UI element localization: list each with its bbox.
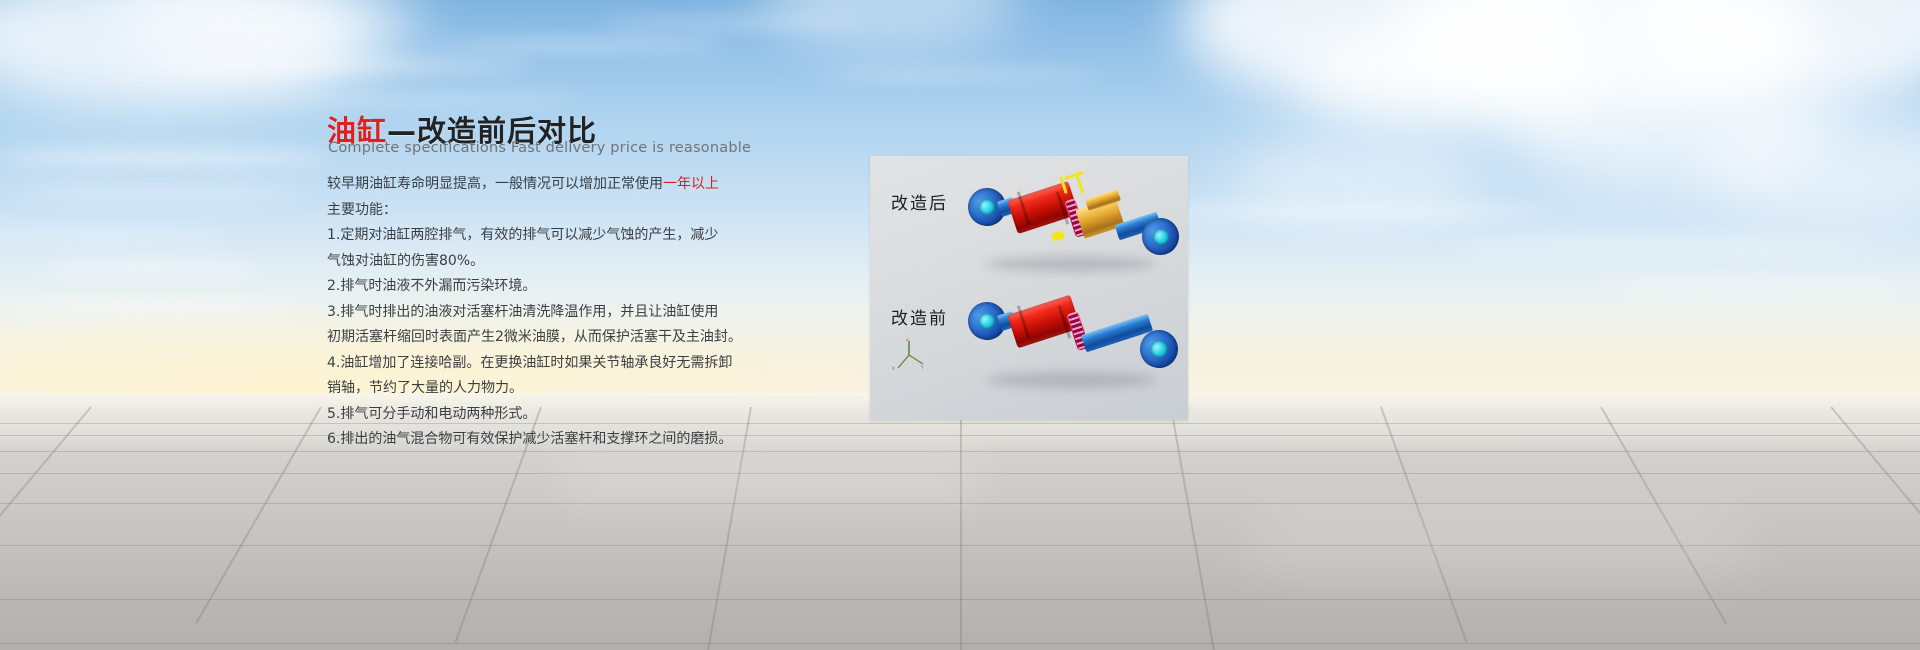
description-line: 主要功能： — [327, 198, 757, 224]
svg-text:Z: Z — [906, 338, 909, 342]
banner-content: 油缸—改造前后对比 Complete specifications Fast d… — [0, 0, 1920, 650]
description-text: 销轴，节约了大量的人力物力。 — [327, 380, 523, 396]
hydraulic-cylinder-after — [966, 170, 1181, 280]
description-text: 气蚀对油缸的伤害80%。 — [327, 253, 484, 269]
description-line: 销轴，节约了大量的人力物力。 — [327, 376, 757, 402]
cylinder-bore — [1150, 226, 1170, 246]
description-line: 3.排气时排出的油液对活塞杆油清洗降温作用，并且让油缸使用 — [327, 300, 757, 326]
description-text: 较早期油缸寿命明显提高，一般情况可以增加正常使用 — [327, 176, 663, 192]
description-line: 6.排出的油气混合物可有效保护减少活塞杆和支撑环之间的磨损。 — [327, 427, 757, 453]
description-text: 初期活塞杆缩回时表面产生2微米油膜，从而保护活塞干及主油封。 — [327, 329, 742, 345]
svg-text:X: X — [892, 366, 895, 371]
description-text: 2.排气时油液不外漏而污染环境。 — [327, 278, 536, 294]
description-text: 5.排气可分手动和电动两种形式。 — [327, 406, 536, 422]
cylinder-bore — [977, 311, 997, 331]
description-line: 5.排气可分手动和电动两种形式。 — [327, 402, 757, 428]
description-line: 气蚀对油缸的伤害80%。 — [327, 249, 757, 275]
description-line: 2.排气时油液不外漏而污染环境。 — [327, 274, 757, 300]
description-text: 4.油缸增加了连接哈副。在更换油缸时如果关节轴承良好无需拆卸 — [327, 355, 732, 371]
cylinder-shadow — [986, 372, 1156, 388]
product-image-panel: 改造后 改造前 X Z Y — [870, 156, 1188, 420]
vent-fitting — [1051, 230, 1065, 241]
description-line: 较早期油缸寿命明显提高，一般情况可以增加正常使用一年以上 — [327, 172, 757, 198]
cylinder-bore — [1148, 338, 1169, 359]
description-text: 1.定期对油缸两腔排气，有效的排气可以减少气蚀的产生，减少 — [327, 227, 718, 243]
description-accent: 一年以上 — [663, 176, 719, 192]
cylinder-shadow — [986, 256, 1156, 272]
description-text: 6.排出的油气混合物可有效保护减少活塞杆和支撑环之间的磨损。 — [327, 431, 732, 447]
label-after-modification: 改造后 — [891, 189, 948, 214]
description-line: 初期活塞杆缩回时表面产生2微米油膜，从而保护活塞干及主油封。 — [327, 325, 757, 351]
coordinate-axis-icon: X Z Y — [892, 338, 926, 372]
svg-text:Y: Y — [920, 365, 924, 370]
description-line: 4.油缸增加了连接哈副。在更换油缸时如果关节轴承良好无需拆卸 — [327, 351, 757, 377]
page-subtitle: Complete specifications Fast delivery pr… — [328, 140, 751, 156]
description-line: 1.定期对油缸两腔排气，有效的排气可以减少气蚀的产生，减少 — [327, 223, 757, 249]
description-text: 3.排气时排出的油液对活塞杆油清洗降温作用，并且让油缸使用 — [327, 304, 718, 320]
hero-banner: 油缸—改造前后对比 Complete specifications Fast d… — [0, 0, 1920, 650]
cylinder-bore — [977, 197, 997, 217]
label-before-modification: 改造前 — [891, 304, 948, 329]
feature-description: 较早期油缸寿命明显提高，一般情况可以增加正常使用一年以上 主要功能： 1.定期对… — [327, 172, 757, 453]
description-text: 主要功能： — [327, 202, 397, 218]
hydraulic-cylinder-before — [966, 284, 1181, 394]
